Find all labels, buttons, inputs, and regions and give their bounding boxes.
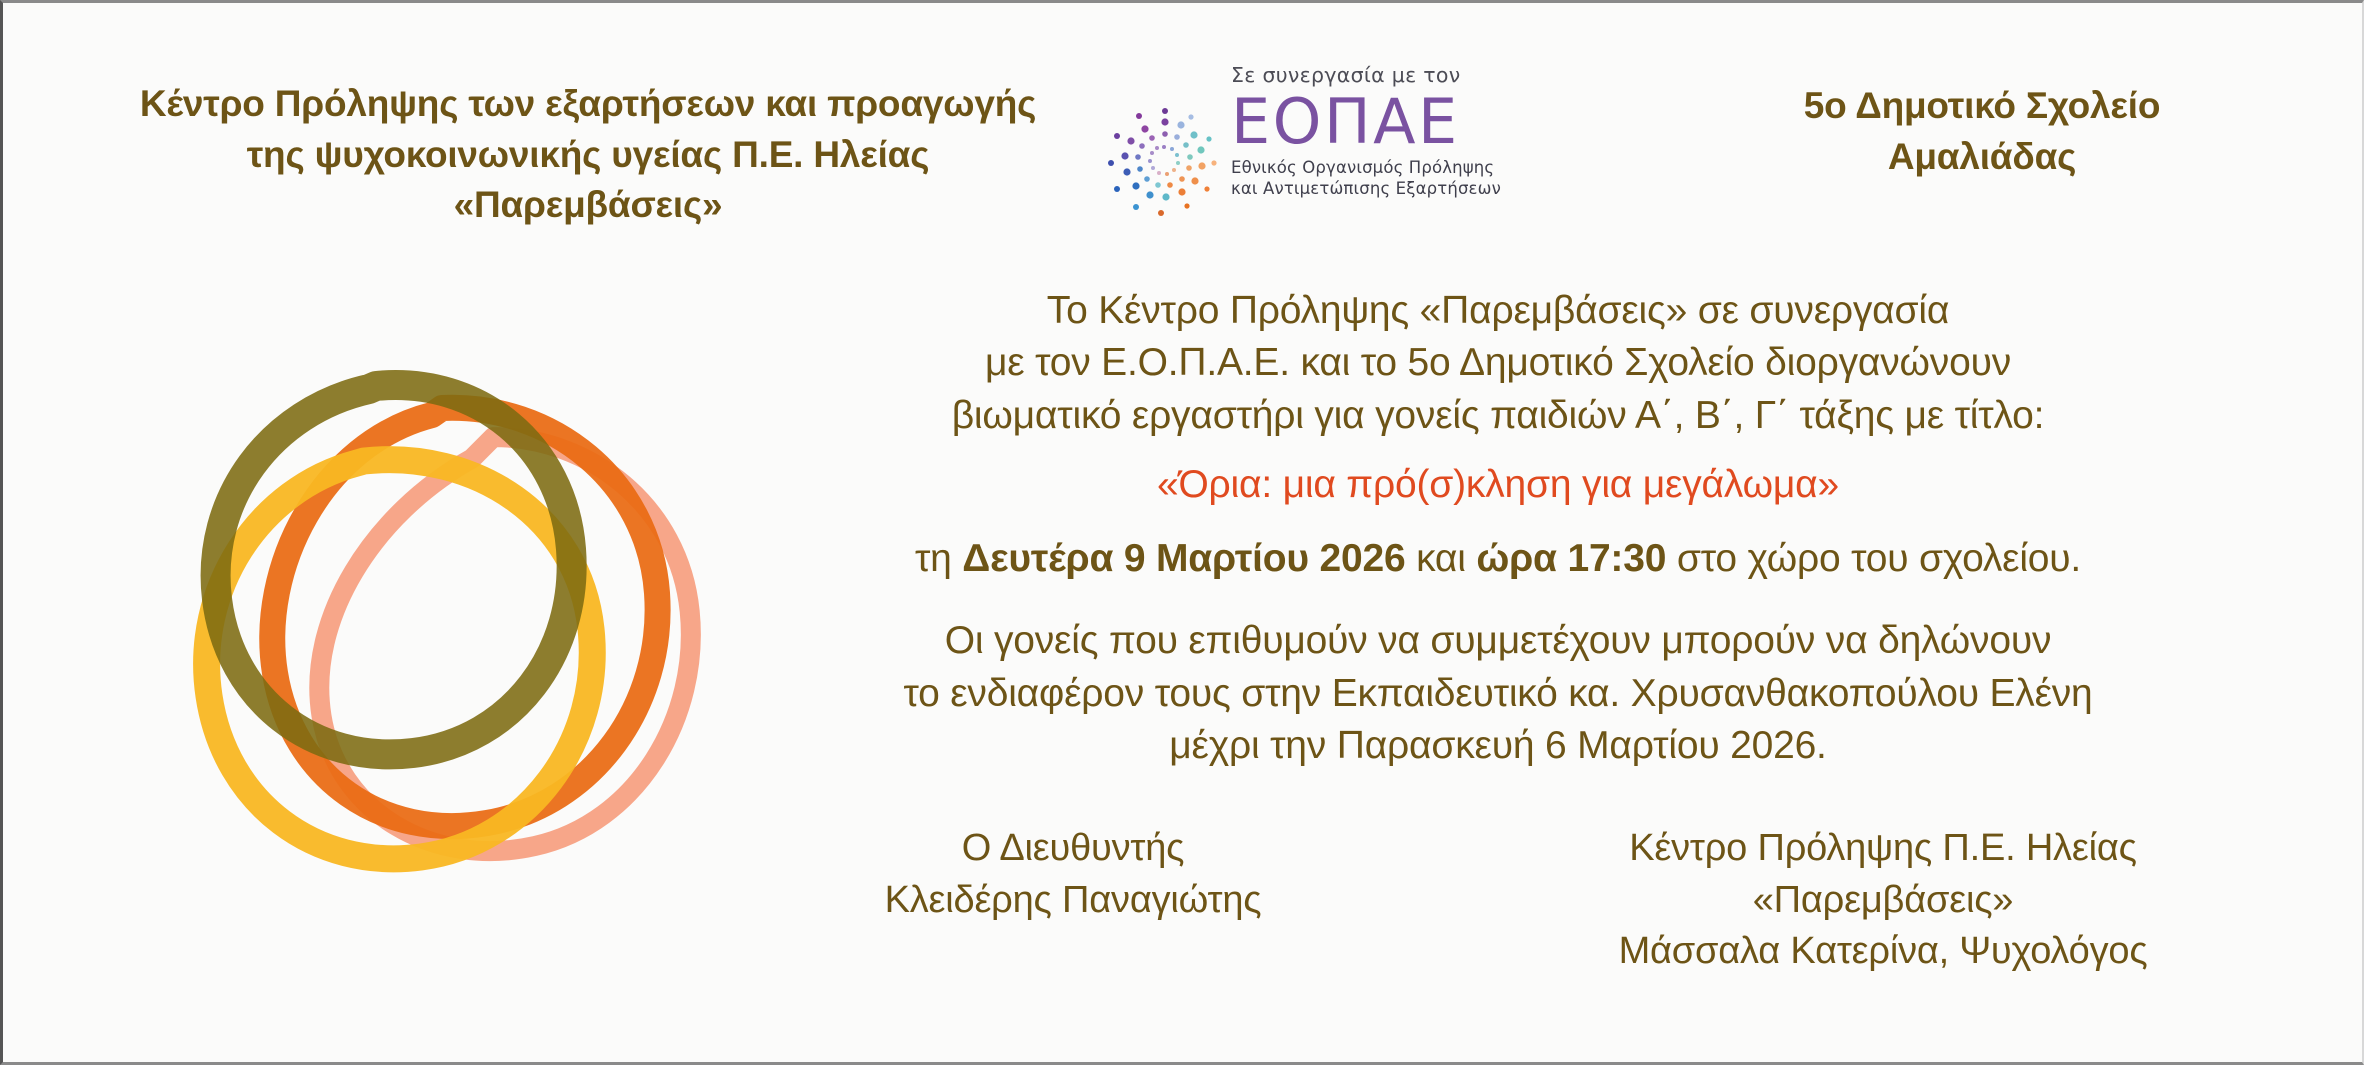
center-line-2: «Παρεμβάσεις» — [1533, 875, 2233, 927]
body-text-block: Το Κέντρο Πρόληψης «Παρεμβάσεις» σε συνε… — [763, 285, 2233, 772]
date-value: Δευτέρα 9 Μαρτίου 2026 — [962, 537, 1405, 580]
center-line-3: Μάσσαλα Κατερίνα, Ψυχολόγος — [1533, 926, 2233, 978]
date-conjunction: και — [1405, 537, 1476, 580]
principal-name: Κλειδέρης Παναγιώτης — [763, 875, 1383, 927]
rsvp-line-3: μέχρι την Παρασκευή 6 Μαρτίου 2026. — [763, 720, 2233, 772]
left-org-line-2: της ψυχοκοινωνικής υγείας Π.Ε. Ηλείας — [108, 130, 1068, 181]
signature-prevention-center: Κέντρο Πρόληψης Π.Ε. Ηλείας «Παρεμβάσεις… — [1533, 823, 2233, 978]
eopae-spiral-dots-logo-icon — [1103, 103, 1225, 225]
date-suffix: στο χώρο του σχολείου. — [1666, 537, 2081, 580]
center-line-1: Κέντρο Πρόληψης Π.Ε. Ηλείας — [1533, 823, 2233, 875]
left-org-line-3: «Παρεμβάσεις» — [108, 180, 1068, 231]
intro-line-3: βιωματικό εργαστήρι για γονείς παιδιών Α… — [763, 390, 2233, 442]
logo-subtitle-line-2: και Αντιμετώπισης Εξαρτήσεων — [1231, 178, 1501, 199]
eopae-logo-block: Σε συνεργασία με τον ΕΟΠΑΕ Εθνικός Οργαν… — [1103, 61, 1503, 246]
logo-wordmark: ΕΟΠΑΕ — [1231, 90, 1501, 154]
rsvp-paragraph: Οι γονείς που επιθυμούν να συμμετέχουν μ… — [763, 615, 2233, 772]
logo-tagline: Σε συνεργασία με τον — [1231, 61, 1501, 86]
rsvp-line-1: Οι γονείς που επιθυμούν να συμμετέχουν μ… — [763, 615, 2233, 667]
logo-subtitle-line-1: Εθνικός Οργανισμός Πρόληψης — [1231, 157, 1501, 178]
eopae-logo-text: Σε συνεργασία με τον ΕΟΠΑΕ Εθνικός Οργαν… — [1231, 61, 1501, 200]
workshop-title: «Όρια: μια πρό(σ)κληση για μεγάλωμα» — [763, 459, 2233, 511]
right-org-line-2: Αμαλιάδας — [1702, 132, 2262, 183]
signature-principal: Ο Διευθυντής Κλειδέρης Παναγιώτης — [763, 823, 1383, 926]
poster-header: Κέντρο Πρόληψης των εξαρτήσεων και προαγ… — [3, 61, 2362, 251]
principal-role: Ο Διευθυντής — [763, 823, 1383, 875]
date-time-line: τη Δευτέρα 9 Μαρτίου 2026 και ώρα 17:30 … — [763, 533, 2233, 585]
left-org-line-1: Κέντρο Πρόληψης των εξαρτήσεων και προαγ… — [108, 79, 1068, 130]
intro-line-1: Το Κέντρο Πρόληψης «Παρεμβάσεις» σε συνε… — [763, 285, 2233, 337]
left-organization-block: Κέντρο Πρόληψης των εξαρτήσεων και προαγ… — [108, 79, 1068, 231]
time-value: ώρα 17:30 — [1476, 537, 1666, 580]
invitation-poster: Κέντρο Πρόληψης των εξαρτήσεων και προαγ… — [0, 0, 2364, 1065]
overlapping-rings-decoration-icon — [151, 333, 731, 903]
rsvp-line-2: το ενδιαφέρον τους στην Εκπαιδευτικό κα.… — [763, 668, 2233, 720]
right-org-line-1: 5ο Δημοτικό Σχολείο — [1702, 81, 2262, 132]
intro-line-2: με τον Ε.Ο.Π.Α.Ε. και το 5ο Δημοτικό Σχο… — [763, 337, 2233, 389]
right-organization-block: 5ο Δημοτικό Σχολείο Αμαλιάδας — [1702, 81, 2262, 182]
date-prefix: τη — [915, 537, 962, 580]
